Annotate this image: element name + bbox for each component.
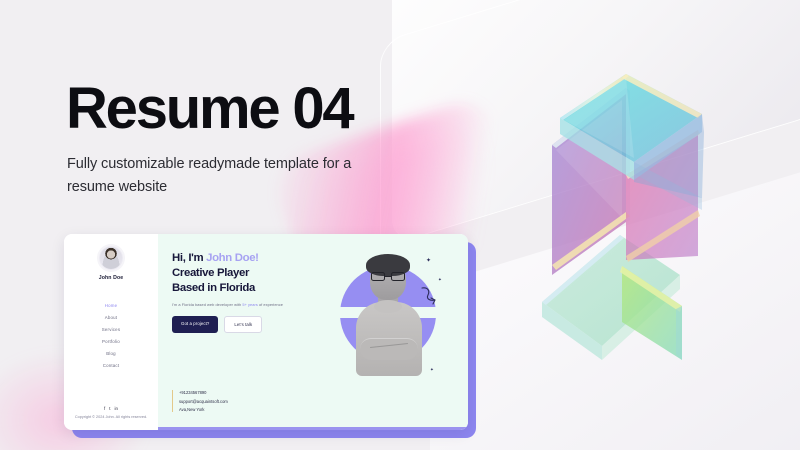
- got-a-project-button[interactable]: Got a project?: [172, 316, 218, 333]
- website-mockup: John Doe Home About Services Portfolio B…: [64, 234, 476, 434]
- contact-phone[interactable]: +91234567890: [179, 390, 228, 395]
- sparkle-icon-3: ✦: [430, 368, 434, 373]
- hero-greeting: Hi, I'm: [172, 252, 206, 264]
- sidebar-nav: Home About Services Portfolio Blog Conta…: [102, 303, 120, 368]
- contact-email[interactable]: support@acquaintsoft.com: [179, 399, 228, 404]
- mockup-card: John Doe Home About Services Portfolio B…: [64, 234, 468, 430]
- sidebar-item-blog[interactable]: Blog: [106, 351, 116, 356]
- sparkle-icon-2: ✦: [438, 278, 442, 283]
- sidebar-item-home[interactable]: Home: [105, 303, 118, 308]
- sidebar-item-services[interactable]: Services: [102, 327, 120, 332]
- linkedin-icon[interactable]: in: [115, 407, 118, 411]
- social-links: f t in: [104, 407, 118, 411]
- sidebar-item-portfolio[interactable]: Portfolio: [102, 339, 120, 344]
- person-crossed-arms: [360, 338, 418, 360]
- facebook-icon[interactable]: f: [104, 407, 105, 411]
- sparkle-icon-1: ✦: [426, 258, 431, 264]
- hero-contact-info: +91234567890 support@acquaintsoft.com Av…: [172, 390, 228, 412]
- mockup-sidebar: John Doe Home About Services Portfolio B…: [64, 234, 158, 430]
- glass-cube-svg: [530, 70, 800, 362]
- person-collar: [374, 300, 402, 313]
- glass-cube-graphic: [530, 70, 800, 362]
- sidebar-item-about[interactable]: About: [105, 315, 117, 320]
- sidebar-item-contact[interactable]: Contact: [103, 363, 120, 368]
- hero-line3: Based in Florida: [172, 282, 255, 294]
- page-subtitle: Fully customizable readymade template fo…: [67, 153, 387, 199]
- hero-name: John Doe!: [206, 252, 259, 264]
- description-post: of experience: [258, 302, 283, 307]
- copyright-text: Copyright © 2024 John. All rights reserv…: [72, 415, 150, 421]
- description-pre: I'm a Florida based web developer with: [172, 302, 242, 307]
- hero-line2: Creative Player: [172, 267, 249, 279]
- contact-address: Ava,New York: [179, 407, 228, 412]
- hero-bottom-accent-bar: [158, 427, 468, 430]
- glasses-icon: [371, 272, 405, 281]
- mockup-hero-panel: Hi, I'm John Doe! Creative Player Based …: [158, 234, 468, 430]
- sidebar-footer: f t in Copyright © 2024 John. All rights…: [64, 407, 158, 421]
- twitter-icon[interactable]: t: [109, 407, 110, 411]
- lets-talk-button[interactable]: Let's talk: [224, 316, 262, 333]
- page-title: Resume 04: [66, 80, 352, 138]
- sidebar-profile-name: John Doe: [99, 275, 123, 281]
- avatar: [99, 246, 123, 270]
- hero-portrait: ✦ ✦ ✦: [334, 252, 442, 380]
- description-highlight: 5+ years: [242, 302, 257, 307]
- portrait-person: [354, 252, 424, 376]
